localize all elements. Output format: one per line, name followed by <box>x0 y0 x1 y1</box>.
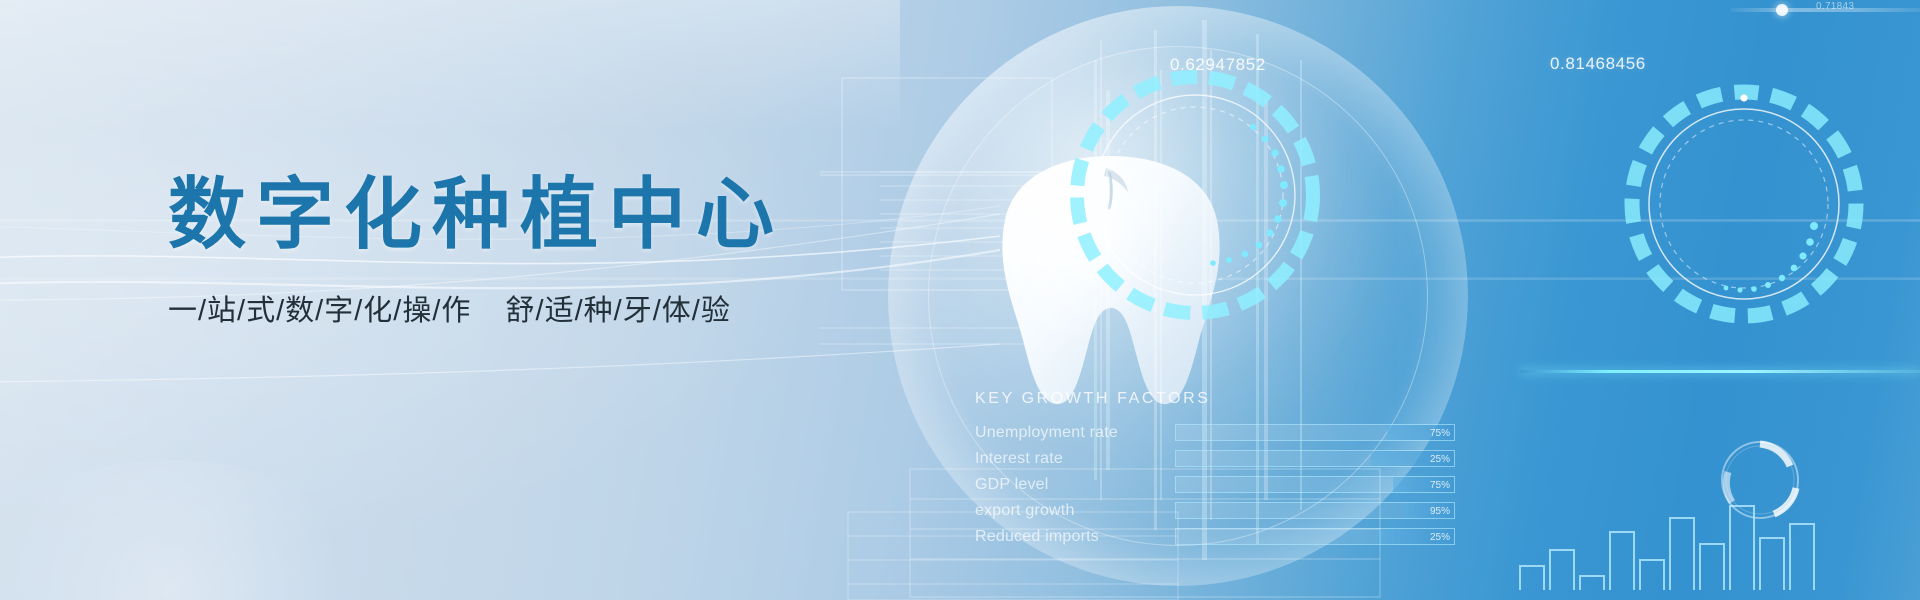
list-item: GDP level 75% <box>975 474 1455 495</box>
top-slider[interactable]: 0.71843 <box>1730 2 1920 18</box>
subtitle-part-right: 舒/适/种/牙/体/验 <box>506 295 731 327</box>
list-item: Reduced imports 25% <box>975 526 1455 547</box>
factor-label: Reduced imports <box>975 528 1175 546</box>
page-subtitle: 一/站/式/数/字/化/操/作 舒/适/种/牙/体/验 <box>168 294 868 329</box>
top-slider-value: 0.71843 <box>1816 1 1854 12</box>
readout-value-a: 0.62947852 <box>1170 55 1266 75</box>
factor-percent: 75% <box>1430 477 1450 494</box>
headline-block: 数字化种植中心 一/站/式/数/字/化/操/作 舒/适/种/牙/体/验 <box>168 172 868 329</box>
factor-progress-bar: 75% <box>1175 476 1455 493</box>
factor-label: Unemployment rate <box>975 424 1175 442</box>
key-growth-factors-panel: KEY GROWTH FACTORS Unemployment rate 75%… <box>975 390 1455 552</box>
factor-progress-bar: 25% <box>1175 450 1455 467</box>
hud-ring-small-icon <box>1712 432 1808 528</box>
factor-percent: 25% <box>1430 529 1450 546</box>
hud-ring-right-icon <box>1618 78 1870 330</box>
key-growth-factors-rows: Unemployment rate 75% Interest rate 25% … <box>975 422 1455 547</box>
factor-percent: 25% <box>1430 451 1450 468</box>
factor-progress-bar: 95% <box>1175 502 1455 519</box>
list-item: export growth 95% <box>975 500 1455 521</box>
top-slider-knob[interactable] <box>1776 4 1788 16</box>
key-growth-factors-title: KEY GROWTH FACTORS <box>975 390 1455 408</box>
factor-label: Interest rate <box>975 450 1175 468</box>
list-item: Interest rate 25% <box>975 448 1455 469</box>
cyan-divider-line <box>1520 370 1920 373</box>
list-item: Unemployment rate 75% <box>975 422 1455 443</box>
hud-ring-middle-icon <box>1065 65 1325 325</box>
subtitle-part-left: 一/站/式/数/字/化/操/作 <box>168 295 471 327</box>
readout-value-b: 0.81468456 <box>1550 54 1646 74</box>
dental-banner: 数字化种植中心 一/站/式/数/字/化/操/作 舒/适/种/牙/体/验 <box>0 0 1920 600</box>
factor-label: GDP level <box>975 476 1175 494</box>
tech-visual-panel: 0.62947852 0.81468456 0.71843 KEY GROWTH… <box>820 0 1920 600</box>
factor-progress-bar: 25% <box>1175 528 1455 545</box>
factor-label: export growth <box>975 502 1175 520</box>
bottom-left-glow <box>0 460 380 600</box>
factor-percent: 75% <box>1430 425 1450 442</box>
page-title: 数字化种植中心 <box>168 172 868 256</box>
factor-percent: 95% <box>1430 503 1450 520</box>
factor-progress-bar: 75% <box>1175 424 1455 441</box>
